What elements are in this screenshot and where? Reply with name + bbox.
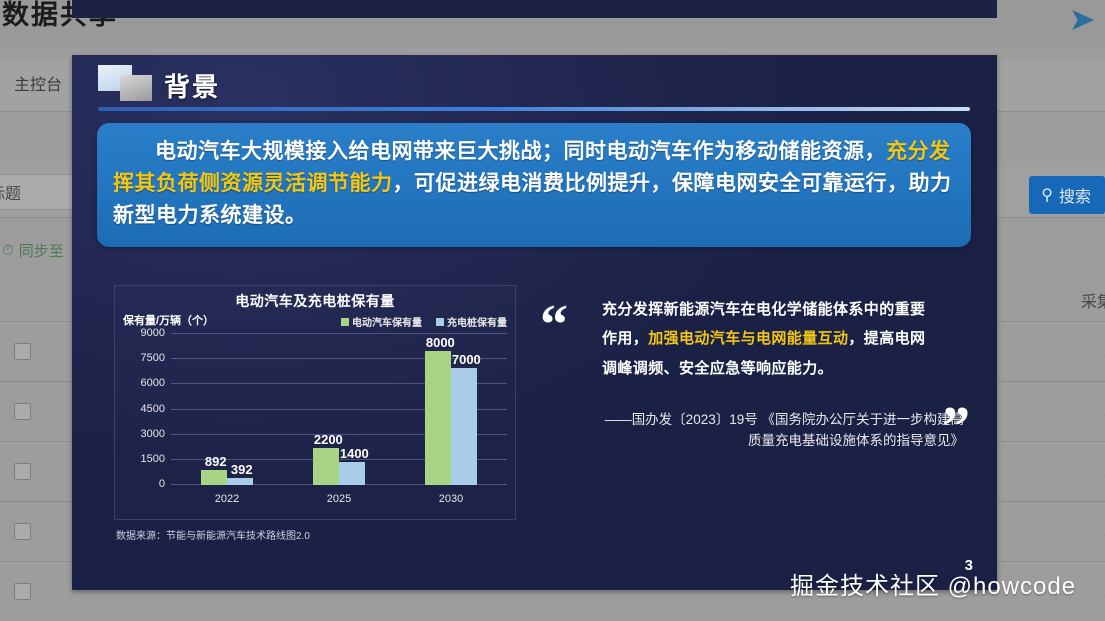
- chart-bar: 892: [201, 470, 227, 485]
- callout-text: 电动汽车大规模接入给电网带来巨大挑战；同时电动汽车作为移动储能资源，充分发挥其负…: [113, 136, 955, 232]
- chart-bar: 2200: [313, 448, 339, 485]
- title-divider: [98, 107, 970, 111]
- row-checkbox[interactable]: [14, 343, 31, 360]
- chart-bar-value: 392: [231, 462, 253, 477]
- chart-y-axis-label: 保有量/万辆（个）: [123, 312, 214, 328]
- quote-highlight: 加强电动汽车与电网能量互动: [648, 330, 848, 347]
- chart-bar: 8000: [425, 351, 451, 485]
- chart-title: 电动汽车及充电桩保有量: [115, 291, 515, 311]
- column-header-collect-time: 采集时间: [1081, 288, 1105, 312]
- chart-bar-groups: 8923922200140080007000: [171, 334, 507, 485]
- row-checkbox[interactable]: [14, 463, 31, 480]
- chart-plot-area: 0150030004500600075009000892392220014008…: [171, 334, 507, 485]
- chart-bar-group: 80007000: [425, 334, 477, 485]
- clock-icon: ⏱: [2, 242, 14, 259]
- chart-y-tick: 0: [159, 478, 165, 490]
- quote-block: “ ” 充分发挥新能源汽车在电化学储能体系中的重要作用，加强电动汽车与电网能量互…: [540, 295, 970, 452]
- chart-bar: 392: [227, 478, 253, 485]
- search-icon: ⚲: [1041, 185, 1053, 205]
- legend-swatch-ev: [341, 318, 349, 326]
- chart-panel: 电动汽车及充电桩保有量 保有量/万辆（个） 电动汽车保有量 充电桩保有量 015…: [114, 285, 516, 520]
- search-button-label: 搜索: [1059, 183, 1091, 207]
- quote-source: ——国办发〔2023〕19号 《国务院办公厅关于进一步构建高质量充电基础设施体系…: [602, 409, 964, 452]
- chart-bar-group: 892392: [201, 334, 253, 485]
- chart-bar: 1400: [339, 462, 365, 485]
- legend-item-pile: 充电桩保有量: [436, 314, 507, 329]
- chart-y-tick: 1500: [141, 453, 165, 465]
- quote-close-icon: ”: [942, 399, 970, 455]
- chart-x-tick: 2025: [327, 493, 351, 505]
- chart-x-tick: 2022: [215, 493, 239, 505]
- chart-y-tick: 3000: [141, 428, 165, 440]
- chart-bar-group: 22001400: [313, 334, 365, 485]
- home-arrow-icon[interactable]: ➤: [1065, 2, 1099, 36]
- chart-source-note: 数据来源：节能与新能源汽车技术路线图2.0: [116, 527, 310, 542]
- chart-bar-value: 2200: [314, 432, 343, 447]
- chart-x-tick: 2030: [439, 493, 463, 505]
- chart-bar-value: 1400: [340, 446, 369, 461]
- legend-item-ev: 电动汽车保有量: [341, 314, 422, 329]
- screen: 数据共享 ➤ 主控台 标题 ⚲ 搜索 ⏱ 同步至 采集时间 2024- 2: [0, 0, 1105, 621]
- chart-y-tick: 6000: [141, 377, 165, 389]
- callout-part1: 电动汽车大规模接入给电网带来巨大挑战；同时电动汽车作为移动储能资源，: [155, 140, 886, 163]
- chart-bar-value: 8000: [426, 335, 455, 350]
- sync-status: ⏱ 同步至: [0, 240, 64, 261]
- chart-y-tick: 7500: [141, 352, 165, 364]
- search-button[interactable]: ⚲ 搜索: [1029, 176, 1105, 214]
- legend-swatch-pile: [436, 318, 444, 326]
- callout-box: 电动汽车大规模接入给电网带来巨大挑战；同时电动汽车作为移动储能资源，充分发挥其负…: [97, 123, 971, 247]
- row-checkbox[interactable]: [14, 583, 31, 600]
- chart-legend: 电动汽车保有量 充电桩保有量: [341, 314, 507, 329]
- slide-header: 背景: [98, 65, 220, 105]
- row-checkbox[interactable]: [14, 523, 31, 540]
- two-squares-icon: [98, 65, 152, 105]
- legend-label-pile: 充电桩保有量: [447, 318, 507, 329]
- chart-y-tick: 4500: [141, 403, 165, 415]
- sync-status-label: 同步至: [19, 240, 64, 261]
- previous-slide-sliver[interactable]: [72, 0, 997, 18]
- quote-open-icon: “: [540, 297, 568, 353]
- chart-bar: 7000: [451, 368, 477, 485]
- legend-label-ev: 电动汽车保有量: [352, 318, 422, 329]
- chart-x-axis-labels: 202220252030: [171, 493, 507, 505]
- presentation-slide[interactable]: 背景 电动汽车大规模接入给电网带来巨大挑战；同时电动汽车作为移动储能资源，充分发…: [72, 55, 997, 590]
- row-checkbox[interactable]: [14, 403, 31, 420]
- chart-bar-value: 892: [205, 454, 227, 469]
- chart-y-tick: 9000: [141, 327, 165, 339]
- quote-text: 充分发挥新能源汽车在电化学储能体系中的重要作用，加强电动汽车与电网能量互动，提高…: [602, 295, 940, 383]
- watermark: 掘金技术社区 @howcode: [790, 566, 1076, 601]
- slide-title: 背景: [164, 67, 220, 104]
- chart-bar-value: 7000: [452, 352, 481, 367]
